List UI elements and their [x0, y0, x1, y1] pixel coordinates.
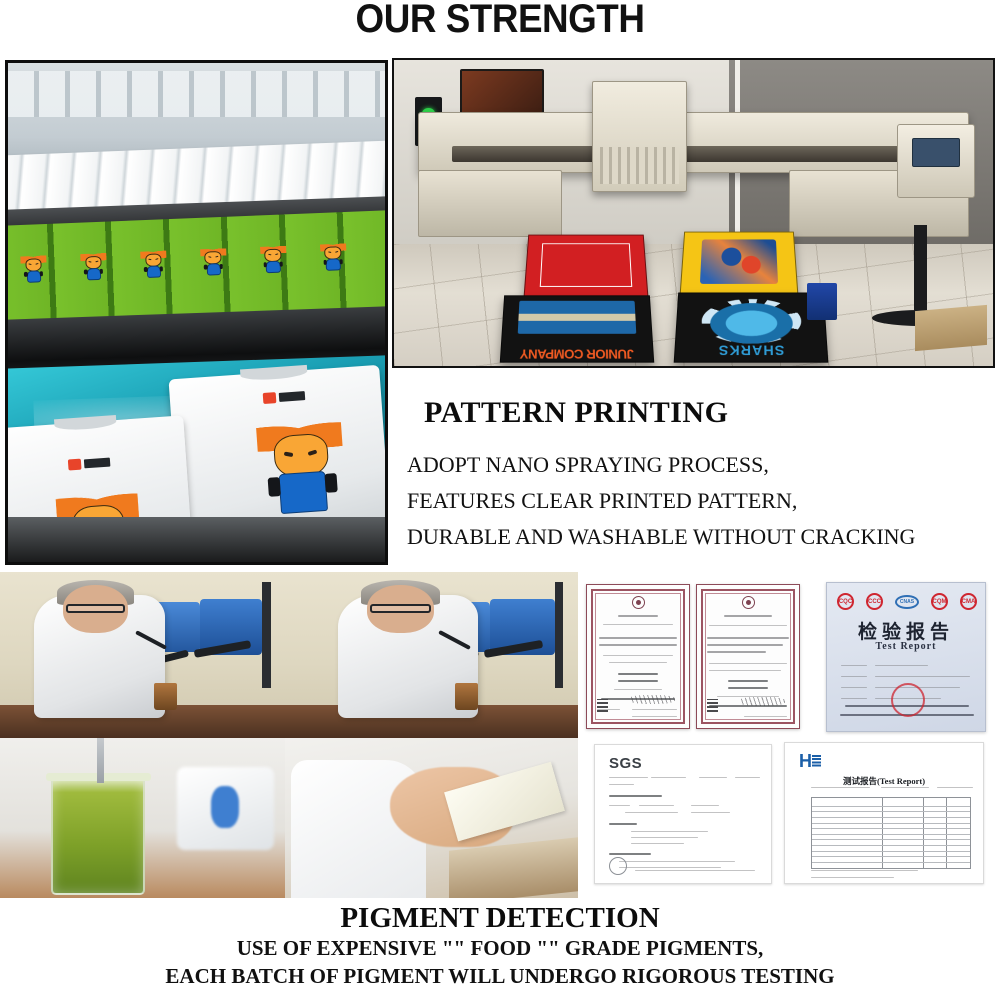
pigment-detection-heading: PIGMENT DETECTION	[0, 902, 1000, 935]
printer-gantry	[418, 112, 969, 173]
print-plate-sharks: SHARKS	[673, 292, 827, 363]
print-plate-junior-company: JUNIOR COMPANY	[500, 295, 654, 363]
lab-stand	[555, 582, 564, 688]
shark-artwork	[699, 298, 801, 343]
cnas-logo-icon: CNAS	[895, 595, 919, 609]
print-plate-yellow	[679, 232, 797, 295]
pattern-printing-heading: PATTERN PRINTING	[424, 396, 728, 430]
signature	[629, 695, 675, 704]
green-pigment-beaker-photo	[0, 738, 285, 898]
ink-container	[807, 283, 837, 320]
pattern-printing-line-3: DURABLE AND WASHABLE WITHOUT CRACKING	[407, 524, 915, 550]
pattern-printing-line-1: ADOPT NANO SPRAYING PROCESS,	[407, 452, 769, 478]
chemist-mixing-photo	[285, 572, 578, 738]
red-official-stamp	[891, 683, 925, 717]
pattern-printing-line-2: FEATURES CLEAR PRINTED PATTERN,	[407, 488, 797, 514]
certificate-seal-icon	[742, 596, 755, 609]
green-pigment-beaker	[51, 776, 145, 894]
printer-base-left	[418, 170, 562, 237]
cardboard-box	[915, 305, 987, 351]
chemist-pipetting-photo	[0, 572, 285, 738]
certificates-collage: CQC CCC CNAS CQM CMA 检验报告 Test Report SG…	[578, 572, 1000, 898]
signature	[739, 697, 785, 706]
pigment-detection-line-2: EACH BATCH OF PIGMENT WILL UNDERGO RIGOR…	[0, 964, 1000, 989]
lab-photo-grid	[0, 572, 578, 898]
mixer-shaft	[97, 738, 104, 783]
page-title: OUR STRENGTH	[40, 0, 960, 39]
cqc-logo-icon: CQC	[837, 593, 854, 610]
cqm-logo-icon: CQM	[931, 593, 948, 610]
qr-code-icon	[597, 699, 608, 712]
lab-stand	[262, 582, 271, 688]
sample-bottle	[154, 683, 177, 710]
sgs-test-report: SGS	[594, 744, 772, 884]
iso-certificate-en	[696, 584, 800, 729]
junior-company-text: JUNIOR COMPANY	[510, 348, 644, 359]
sample-bottle	[455, 683, 478, 710]
ccc-logo-icon: CCC	[866, 593, 883, 610]
h-brand-logo: H	[799, 751, 821, 772]
brand-logo-chip	[262, 390, 305, 404]
floor-stand	[914, 225, 927, 317]
factory-floor	[8, 517, 385, 562]
sharks-text: SHARKS	[684, 342, 818, 358]
safety-glasses-icon	[66, 604, 126, 614]
print-plate-red	[523, 235, 648, 298]
junior-company-artwork	[517, 301, 636, 333]
sgs-seal-icon	[609, 857, 627, 875]
h-test-report: H 测试报告(Test Report)	[784, 742, 984, 884]
print-head-assembly	[592, 81, 688, 191]
blue-equipment-part	[211, 786, 240, 828]
screen-printing-carousel-photo	[5, 60, 388, 565]
safety-glasses-icon	[370, 604, 432, 614]
uv-flatbed-printer-photo: JUNIOR COMPANY SHARKS	[392, 58, 995, 368]
test-report-title-en: Test Report	[827, 641, 985, 652]
control-panel-screen	[912, 138, 961, 167]
h-report-title: 测试报告(Test Report)	[785, 775, 983, 787]
hand-fabric-swatch-photo	[285, 738, 578, 898]
sgs-logo: SGS	[609, 755, 642, 772]
cma-logo-icon: CMA	[960, 593, 977, 610]
printer-rail	[452, 146, 935, 161]
test-results-table	[811, 797, 971, 869]
certification-logo-row: CQC CCC CNAS CQM CMA	[837, 593, 977, 610]
brand-logo-chip	[68, 457, 111, 471]
pigment-detection-line-1: USE OF EXPENSIVE "" FOOD "" GRADE PIGMEN…	[0, 936, 1000, 961]
printer-control-panel[interactable]	[897, 124, 975, 197]
bull-mascot-print	[256, 414, 347, 518]
certificate-seal-icon	[632, 596, 645, 609]
qr-code-icon	[707, 699, 718, 712]
inspection-test-report: CQC CCC CNAS CQM CMA 检验报告 Test Report	[826, 582, 986, 732]
test-report-title-cn: 检验报告	[827, 617, 985, 644]
iso-certificate-cn	[586, 584, 690, 729]
